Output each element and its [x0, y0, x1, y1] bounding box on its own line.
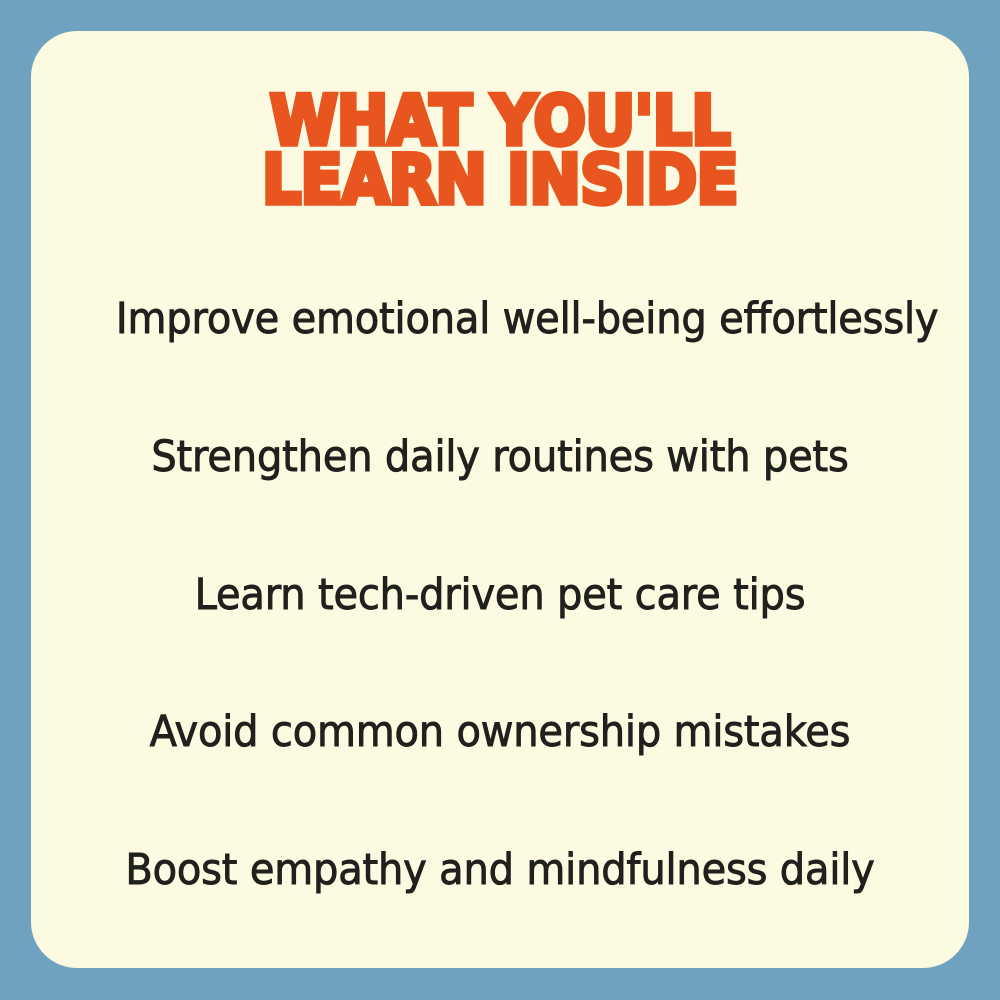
page-title: WHAT YOU'LL LEARN INSIDE [31, 93, 969, 209]
page-title-line-2: LEARN INSIDE [114, 152, 886, 209]
list-item: Boost empathy and mindfulness daily [116, 844, 884, 896]
list-item: Learn tech-driven pet care tips [116, 569, 884, 621]
content-card: WHAT YOU'LL LEARN INSIDE Improve emotion… [31, 31, 969, 968]
slide-canvas: WHAT YOU'LL LEARN INSIDE Improve emotion… [0, 0, 1000, 1000]
benefit-list: Improve emotional well-being effortlessl… [31, 293, 969, 896]
list-item: Improve emotional well-being effortlessl… [116, 293, 884, 345]
list-item: Avoid common ownership mistakes [116, 706, 884, 758]
list-item: Strengthen daily routines with pets [116, 431, 884, 483]
